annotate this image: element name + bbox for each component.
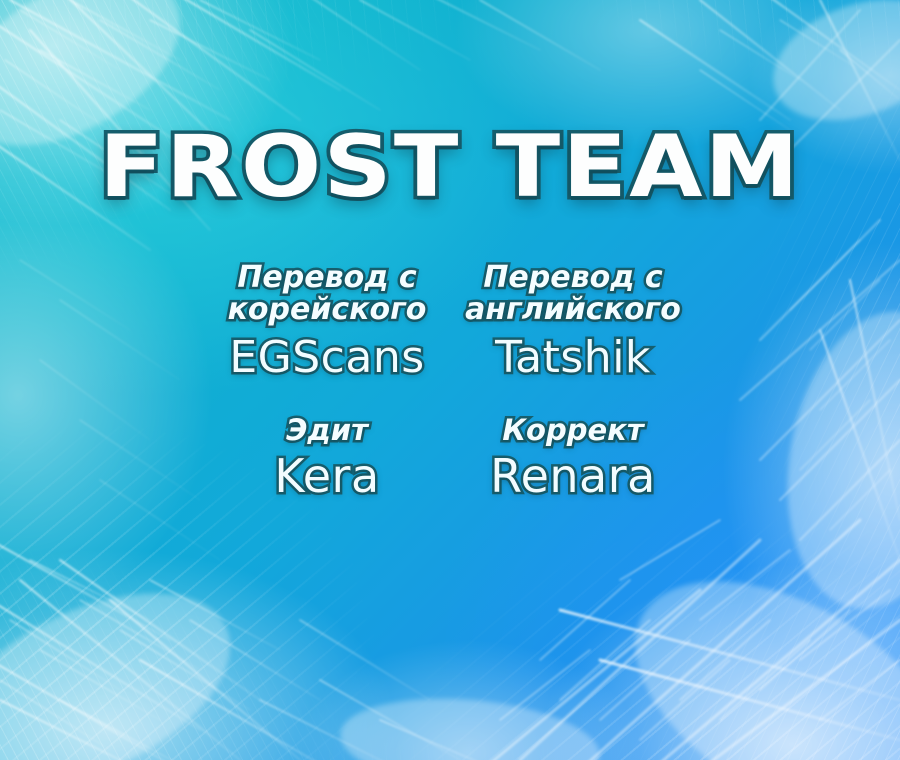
role-label-translation-korean: Перевод с корейского	[202, 262, 452, 327]
credits-column-left: Перевод с корейского EGScans Эдит Kera	[202, 262, 452, 501]
credit-name-egscans: EGScans	[202, 335, 452, 381]
credit-name-tatshik: Tatshik	[448, 335, 698, 381]
credits-block: Перевод с корейского EGScans Эдит Kera П…	[0, 262, 900, 501]
role-line-1: Перевод с	[448, 262, 698, 294]
credit-group-proofread: Коррект Renara	[448, 415, 698, 501]
role-line-1: Перевод с	[202, 262, 452, 294]
role-label-edit: Эдит	[202, 415, 452, 446]
credit-group-edit: Эдит Kera	[202, 415, 452, 501]
role-line-2: английского	[448, 294, 698, 326]
credits-page: FROST TEAM Перевод с корейского EGScans …	[0, 0, 900, 760]
credits-column-right: Перевод с английского Tatshik Коррект Re…	[448, 262, 698, 501]
content-layer: FROST TEAM Перевод с корейского EGScans …	[0, 0, 900, 760]
column-spacer	[202, 381, 452, 415]
credit-group-translation-korean: Перевод с корейского EGScans	[202, 262, 452, 381]
role-label-translation-english: Перевод с английского	[448, 262, 698, 327]
column-spacer	[448, 381, 698, 415]
page-title: FROST TEAM	[0, 124, 900, 210]
role-line-2: корейского	[202, 294, 452, 326]
role-label-proofread: Коррект	[448, 415, 698, 446]
credit-name-kera: Kera	[202, 452, 452, 500]
credit-group-translation-english: Перевод с английского Tatshik	[448, 262, 698, 381]
credit-name-renara: Renara	[448, 452, 698, 500]
